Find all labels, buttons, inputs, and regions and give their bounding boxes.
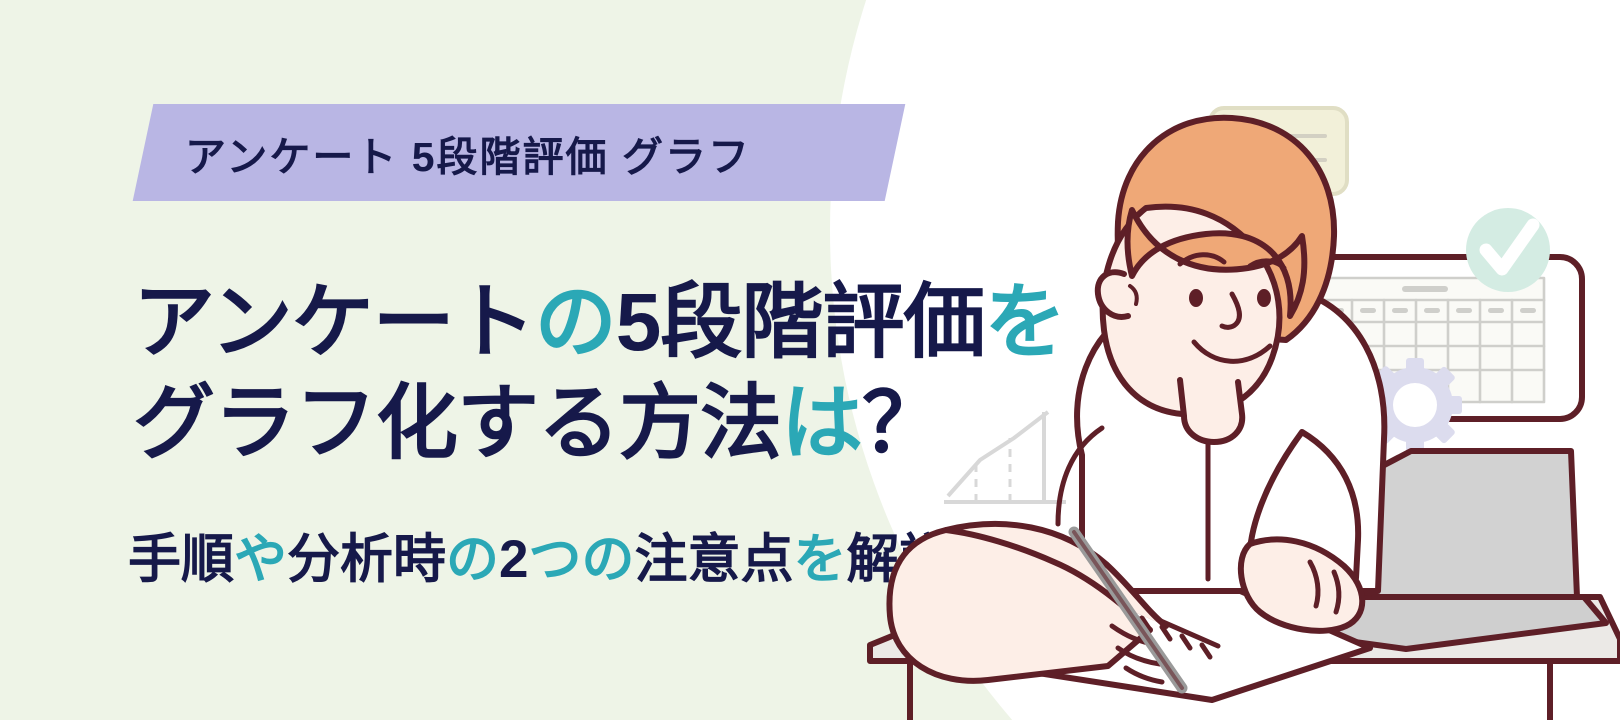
headline-seg: アンケート [133, 277, 535, 368]
subhead-seg-accent: つの [528, 530, 634, 589]
subhead-seg: 手順 [128, 530, 234, 589]
check-badge-icon [1466, 208, 1550, 292]
subhead-seg-accent: を [793, 530, 846, 589]
headline-seg: グラフ化する方法 [133, 378, 781, 469]
subhead-seg: 分析時 [287, 530, 446, 589]
hero-illustration [850, 60, 1620, 720]
tag-label: アンケート 5段階評価 グラフ [185, 104, 885, 201]
hero-banner: アンケート 5段階評価 グラフ アンケートの5段階評価を グラフ化する方法は？ … [0, 0, 1620, 720]
subhead-seg-accent: や [234, 530, 287, 589]
subhead-seg-accent: の [446, 530, 499, 589]
subhead-seg: 注意点 [634, 530, 793, 589]
headline-seg-accent: の [535, 277, 616, 368]
subhead-seg: 2 [499, 530, 528, 589]
